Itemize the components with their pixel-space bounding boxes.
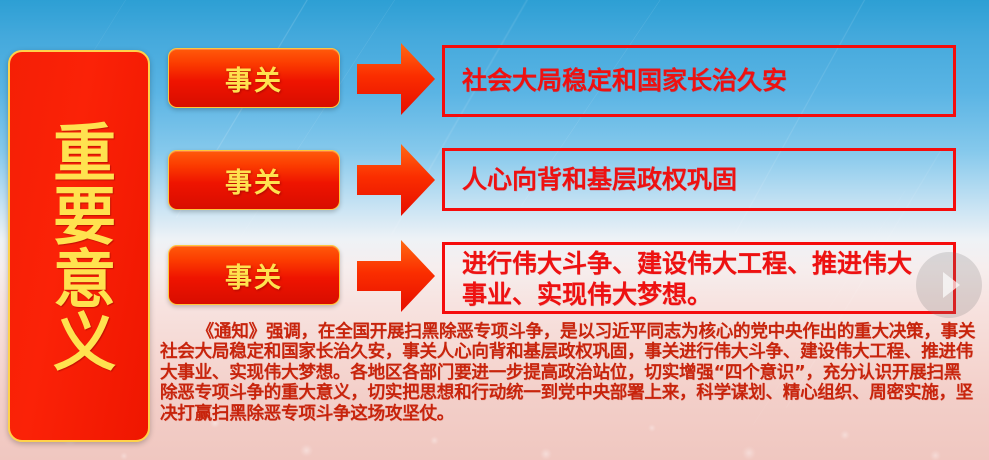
label-button-row-3[interactable]: 事关 bbox=[168, 245, 340, 305]
paragraph-line-2: 社会大局稳定和国家长治久安，事关人心向背和基层政权巩固，事关进行伟大斗争、建设伟… bbox=[160, 342, 988, 362]
paragraph-line-4: 除恶专项斗争的重大意义，切实把思想和行动统一到党中央部署上来，科学谋划、精心组织… bbox=[160, 383, 988, 403]
statement-text-3-line-1: 进行伟大斗争、建设伟大工程、推进伟大 bbox=[462, 248, 912, 279]
statement-box-1: 社会大局稳定和国家长治久安 bbox=[442, 45, 956, 117]
label-button-row-3-text: 事关 bbox=[225, 256, 283, 295]
label-button-row-2[interactable]: 事关 bbox=[168, 150, 340, 210]
body-paragraph: 《通知》强调，在全国开展扫黑除恶专项斗争，是以习近平同志为核心的党中央作出的重大… bbox=[160, 322, 988, 424]
bokeh-sparkle bbox=[430, 436, 439, 445]
bokeh-sparkle bbox=[300, 444, 313, 457]
label-button-row-1[interactable]: 事关 bbox=[168, 48, 340, 108]
bokeh-sparkle bbox=[742, 446, 756, 460]
right-arrow-icon-row-1 bbox=[357, 42, 435, 116]
paragraph-line-5: 决打赢扫黑除恶专项斗争这场攻坚仗。 bbox=[160, 404, 988, 424]
paragraph-line-3: 大事业、实现伟大梦想。各地区各部门要进一步提高政治站位，切实增强“四个意识”，充… bbox=[160, 363, 988, 383]
statement-box-3: 进行伟大斗争、建设伟大工程、推进伟大 事业、实现伟大梦想。 bbox=[442, 242, 956, 314]
statement-box-2: 人心向背和基层政权巩固 bbox=[442, 148, 956, 211]
right-arrow-icon-row-2 bbox=[357, 143, 435, 217]
statement-text-3-line-2: 事业、实现伟大梦想。 bbox=[462, 279, 912, 310]
right-arrow-icon-row-3 bbox=[357, 239, 435, 313]
label-button-row-1-text: 事关 bbox=[225, 59, 283, 98]
vertical-title-panel: 重要意义 bbox=[8, 50, 150, 442]
bokeh-sparkle bbox=[120, 452, 128, 460]
bokeh-sparkle bbox=[540, 448, 552, 460]
bokeh-sparkle bbox=[648, 424, 656, 432]
chevron-right-icon bbox=[943, 272, 960, 298]
label-button-row-2-text: 事关 bbox=[225, 161, 283, 200]
page-title: 重要意义 bbox=[41, 120, 117, 372]
statement-text-2: 人心向背和基层政权巩固 bbox=[462, 164, 737, 195]
statement-text-1: 社会大局稳定和国家长治久安 bbox=[462, 65, 787, 96]
bokeh-sparkle bbox=[930, 450, 941, 460]
next-slide-button[interactable] bbox=[916, 252, 982, 318]
bokeh-sparkle bbox=[840, 430, 850, 440]
slide-canvas: 重要意义 事关 社会大局稳定和国家长治久安 事关 bbox=[0, 0, 989, 460]
paragraph-line-1: 《通知》强调，在全国开展扫黑除恶专项斗争，是以习近平同志为核心的党中央作出的重大… bbox=[160, 322, 988, 342]
